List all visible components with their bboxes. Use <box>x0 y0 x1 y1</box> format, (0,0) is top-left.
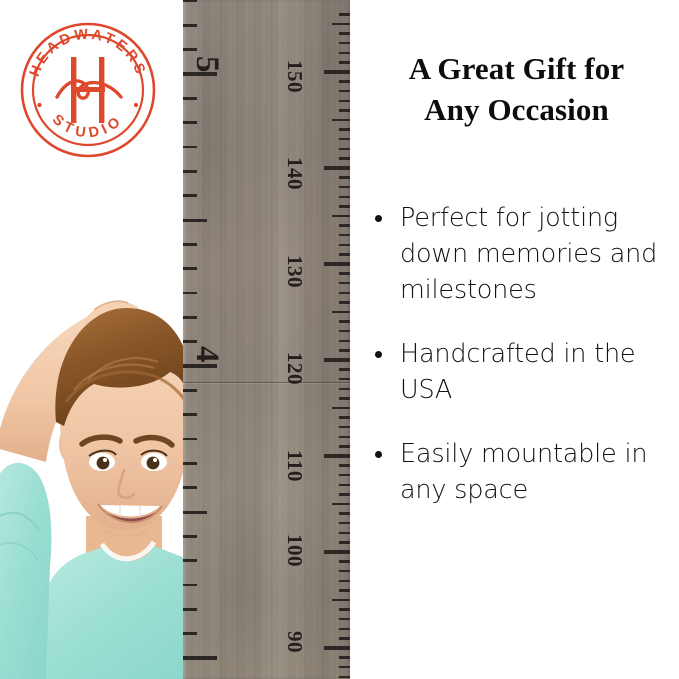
inch-tick <box>183 486 197 489</box>
inch-tick <box>183 340 197 343</box>
ruler-cm-label-130: 130 <box>282 255 307 288</box>
cm-tick <box>332 119 350 122</box>
cm-tick <box>339 368 350 370</box>
cm-tick <box>339 148 350 150</box>
ruler-cm-label-120: 120 <box>282 352 307 385</box>
ruler-feet-label-5: 5 <box>188 56 225 73</box>
headline-line-1: A Great Gift for <box>409 51 624 86</box>
cm-tick <box>339 608 350 610</box>
list-item-label: Perfect for jotting down memories and mi… <box>400 203 657 305</box>
cm-tick <box>324 166 350 169</box>
inch-tick <box>183 97 197 100</box>
inch-tick <box>183 389 197 392</box>
cm-tick <box>339 196 350 198</box>
cm-tick <box>332 215 350 218</box>
inch-tick <box>183 146 197 149</box>
cm-tick <box>339 176 350 178</box>
brand-name-top: HEADWATERS <box>27 27 149 80</box>
cm-tick <box>339 426 350 428</box>
inch-tick <box>183 0 197 2</box>
cm-tick <box>339 224 350 226</box>
child-photo <box>0 186 184 679</box>
cm-tick <box>339 666 350 668</box>
cm-tick <box>339 484 350 486</box>
list-item-label: Easily mountable in any space <box>400 439 647 505</box>
cm-tick <box>339 32 350 34</box>
cm-tick <box>339 282 350 284</box>
cm-tick <box>339 13 350 15</box>
ruler-cm-label-150: 150 <box>282 60 307 93</box>
cm-tick <box>339 493 350 495</box>
inch-tick <box>183 292 197 295</box>
cm-tick <box>339 320 350 322</box>
cm-tick <box>339 445 350 447</box>
bullet-dot-icon <box>375 451 382 458</box>
cm-tick <box>339 618 350 620</box>
inch-tick <box>183 535 197 538</box>
cm-tick <box>339 244 350 246</box>
cm-tick <box>339 128 350 130</box>
svg-text:HEADWATERS: HEADWATERS <box>27 27 149 80</box>
inch-tick <box>183 121 197 124</box>
cm-tick <box>339 272 350 274</box>
ruler-cm-label-110: 110 <box>282 450 307 482</box>
cm-tick <box>332 599 350 602</box>
wood-grain-texture <box>183 0 350 679</box>
inch-tick <box>183 267 197 270</box>
inch-tick <box>183 194 197 197</box>
cm-tick <box>339 157 350 159</box>
plank-seam <box>183 382 350 383</box>
page-title: A Great Gift for Any Occasion <box>364 48 669 130</box>
cm-tick <box>339 61 350 63</box>
growth-chart-ruler: 5 4 150 140 130 120 110 100 90 <box>183 0 350 679</box>
photo-panel: HEADWATERS STUDIO <box>0 0 184 679</box>
cm-tick <box>339 301 350 303</box>
cm-tick <box>339 397 350 399</box>
cm-tick <box>339 349 350 351</box>
ruler-feet-label-4: 4 <box>188 346 225 363</box>
inch-tick <box>183 608 197 611</box>
marketing-text-panel: A Great Gift for Any Occasion Perfect fo… <box>350 0 679 679</box>
bullet-dot-icon <box>375 351 382 358</box>
feature-list: Perfect for jotting down memories and mi… <box>368 200 673 536</box>
cm-tick <box>324 454 350 457</box>
list-item: Handcrafted in the USA <box>368 336 673 408</box>
cm-tick <box>332 311 350 314</box>
headline-line-2: Any Occasion <box>424 92 609 127</box>
ruler-cm-label-100: 100 <box>282 534 307 567</box>
cm-tick <box>339 138 350 140</box>
list-item-label: Handcrafted in the USA <box>400 339 635 405</box>
cm-tick <box>332 503 350 506</box>
inch-tick <box>183 364 217 367</box>
cm-tick <box>339 637 350 639</box>
brand-logo: HEADWATERS STUDIO <box>19 21 157 159</box>
cm-tick <box>339 109 350 111</box>
cm-tick <box>339 628 350 630</box>
cm-tick <box>339 436 350 438</box>
cm-tick <box>339 676 350 678</box>
inch-tick <box>183 170 197 173</box>
cm-tick <box>339 580 350 582</box>
cm-tick <box>339 388 350 390</box>
inch-tick <box>183 438 197 441</box>
cm-tick <box>332 23 350 26</box>
cm-tick <box>339 292 350 294</box>
cm-tick <box>339 234 350 236</box>
cm-tick <box>339 340 350 342</box>
cm-tick <box>339 474 350 476</box>
cm-tick <box>339 416 350 418</box>
inch-tick <box>183 243 197 246</box>
inch-tick <box>183 559 197 562</box>
inch-tick <box>183 219 207 222</box>
inch-tick <box>183 584 197 587</box>
cm-tick <box>339 656 350 658</box>
inch-tick <box>183 316 197 319</box>
list-item: Easily mountable in any space <box>368 436 673 508</box>
cm-tick <box>339 100 350 102</box>
inch-tick <box>183 462 197 465</box>
cm-tick <box>339 541 350 543</box>
inch-tick <box>183 632 197 635</box>
cm-tick <box>339 80 350 82</box>
inch-tick <box>183 511 207 514</box>
cm-tick <box>339 330 350 332</box>
inch-tick <box>183 656 217 659</box>
cm-tick <box>339 378 350 380</box>
cm-tick <box>339 512 350 514</box>
cm-tick <box>324 550 350 553</box>
cm-tick <box>339 186 350 188</box>
bullet-dot-icon <box>375 215 382 222</box>
cm-tick <box>339 522 350 524</box>
wood-grain-shading <box>183 0 350 679</box>
ruler-cm-label-140: 140 <box>282 157 307 190</box>
cm-tick <box>324 646 350 649</box>
list-item: Perfect for jotting down memories and mi… <box>368 200 673 308</box>
cm-tick <box>324 262 350 265</box>
inch-tick <box>183 48 197 51</box>
cm-tick <box>324 358 350 361</box>
cm-tick <box>339 90 350 92</box>
inch-tick <box>183 413 197 416</box>
ruler-cm-label-90: 90 <box>282 631 307 653</box>
cm-tick <box>339 589 350 591</box>
cm-tick <box>332 407 350 410</box>
cm-tick <box>339 42 350 44</box>
cm-tick <box>339 205 350 207</box>
cm-tick <box>339 253 350 255</box>
cm-tick <box>339 570 350 572</box>
cm-tick <box>339 560 350 562</box>
cm-tick <box>339 532 350 534</box>
product-feature-image: HEADWATERS STUDIO 5 4 150 140 130 120 11… <box>0 0 679 679</box>
cm-tick <box>324 70 350 73</box>
inch-tick <box>183 24 197 27</box>
cm-tick <box>339 52 350 54</box>
cm-tick <box>339 464 350 466</box>
